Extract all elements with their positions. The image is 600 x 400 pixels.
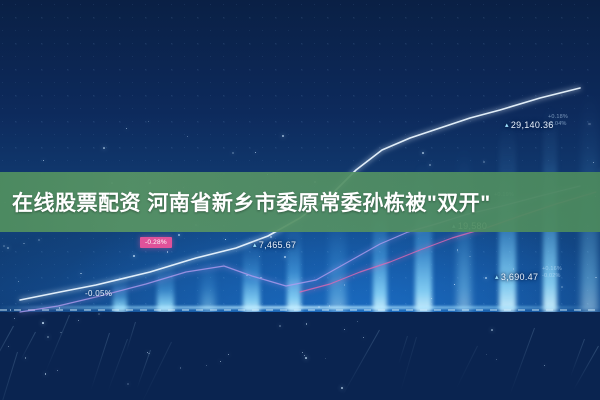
headline-banner: 在线股票配资 河南省新乡市委原常委孙栋被"双开": [0, 172, 600, 232]
price-label: ▴3,690.47: [495, 272, 538, 282]
caret-up-icon: ▴: [253, 242, 257, 249]
percent-label: -0.05%: [85, 289, 112, 298]
price-label: ▴7,465.67: [253, 240, 296, 250]
price-label: ▴29,140.36: [505, 120, 554, 130]
mini-stat-label: +0.16%-0.02%: [542, 266, 562, 280]
percent-badge: -0.28%: [140, 237, 172, 248]
mini-stat-label: +0.18%-0.04%: [548, 114, 568, 128]
caret-up-icon: ▴: [495, 274, 499, 281]
caret-up-icon: ▴: [505, 122, 509, 129]
banner-headline-text: 在线股票配资 河南省新乡市委原常委孙栋被"双开": [0, 187, 499, 217]
banner-image: ▴29,140.36▴19,580▴3,690.47▴7,465.67-0.05…: [0, 0, 600, 400]
